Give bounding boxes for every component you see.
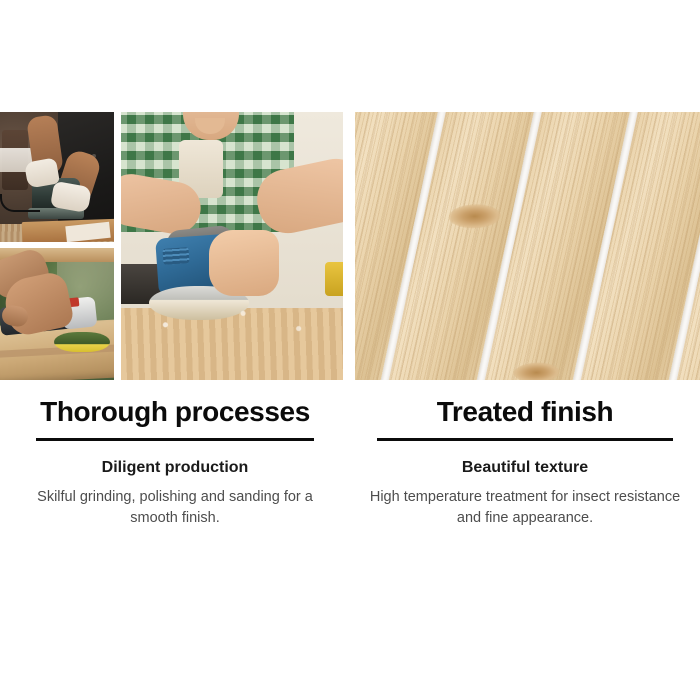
wood-knot [448,203,501,229]
yellow-tool [325,262,343,296]
photo-pine-slat-texture [355,112,700,380]
left-photo-stack [0,112,114,380]
headline-rule [36,438,314,441]
headline-treated-finish: Treated finish [364,396,686,427]
media-band [0,112,700,380]
power-cord [0,194,40,212]
feature-column-treated-finish: Treated finish Beautiful texture High te… [350,392,700,529]
body-text-treated-finish: High temperature treatment for insect re… [364,487,686,529]
body-text-thorough-processes: Skilful grinding, polishing and sanding … [14,487,336,529]
headline-rule [377,438,673,441]
sander-vent [162,247,189,265]
polishing-disc [54,332,110,352]
photo-craftsman-sanding-bench [0,112,114,242]
wood-knot [513,362,560,380]
feature-column-thorough-processes: Thorough processes Diligent production S… [0,392,350,529]
feature-panel: Thorough processes Diligent production S… [0,0,700,700]
text-band: Thorough processes Diligent production S… [0,392,700,529]
sawdust-particles [121,302,343,340]
subheadline-beautiful-texture: Beautiful texture [364,458,686,477]
left-media-collage [0,112,343,380]
worker-hand-on-sander [209,230,279,296]
right-media-photo [355,112,700,380]
subheadline-diligent-production: Diligent production [14,458,336,477]
photo-orbital-sander-plaid [121,112,343,380]
photo-angle-grinder-outdoors [0,248,114,380]
headline-thorough-processes: Thorough processes [14,396,336,427]
